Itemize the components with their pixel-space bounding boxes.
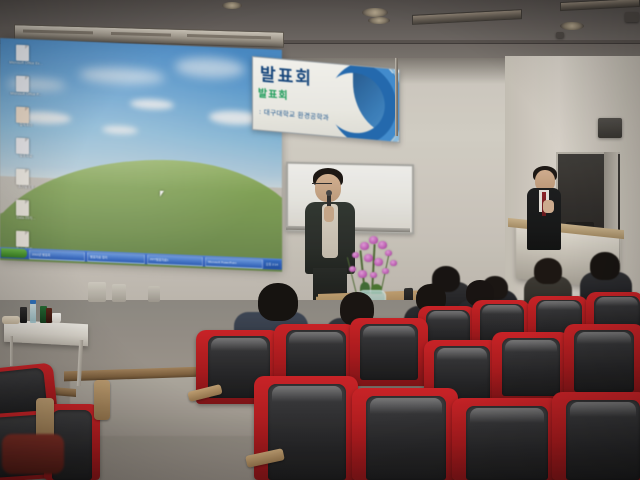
seat-gloss — [538, 301, 580, 310]
taskbar-button[interactable]: 2011년 발표회 — [29, 249, 85, 261]
mouse-cursor-icon — [160, 191, 167, 197]
orchid-bloom — [352, 252, 359, 258]
water-bottle — [30, 303, 36, 323]
orchid-bloom — [349, 266, 356, 272]
auditorium-photo: Microsoft Office Ex... Microsoft Office … — [0, 0, 640, 480]
orchid-bloom — [358, 270, 367, 278]
ceiling-speaker-icon — [625, 12, 639, 22]
seat-gloss — [505, 340, 557, 352]
standing-attendee — [527, 166, 567, 260]
downlight-icon-4 — [222, 2, 242, 9]
glasses-icon — [312, 183, 332, 188]
downlight-icon-2 — [368, 17, 390, 24]
start-button[interactable] — [1, 248, 27, 258]
document-icon — [16, 138, 29, 155]
desktop-icon[interactable]: Data-09차... — [4, 199, 48, 227]
orchid-bloom — [382, 268, 389, 274]
paper-cup — [52, 313, 61, 323]
banner-department: : 대구대학교 환경공학과 — [259, 108, 329, 122]
system-tray-clock[interactable]: 오후 2:14 — [264, 260, 280, 269]
wall-speaker-icon — [598, 118, 622, 138]
orchid-bloom — [378, 241, 387, 249]
seat-gloss — [596, 297, 638, 306]
desktop-icon-label: 발표자료 — [4, 153, 48, 159]
stage-box-2 — [112, 284, 126, 302]
orchid-bloom — [374, 258, 383, 266]
banner-arc-decoration — [329, 58, 400, 143]
bottle-cap — [30, 300, 36, 304]
desktop-icon[interactable]: 알직포더 — [4, 106, 48, 134]
document-icon — [16, 76, 29, 93]
seat-gloss — [370, 398, 442, 414]
downlight-icon — [362, 8, 388, 17]
taskbar-button[interactable]: PPT발표자료1 — [147, 254, 203, 266]
ceiling-sensor-icon — [556, 32, 564, 38]
seat-gloss — [570, 402, 636, 417]
seat-gloss — [470, 408, 544, 423]
seat-gloss — [577, 332, 631, 344]
event-banner: 발표회 발표회 : 대구대학교 환경공학과 — [252, 56, 400, 143]
document-icon — [16, 45, 29, 62]
orchid-bloom — [390, 260, 397, 266]
folder-icon — [16, 107, 29, 124]
seat-gloss — [428, 311, 468, 320]
orchid-bloom — [385, 250, 392, 256]
banner-subtitle: 발표회 — [258, 89, 289, 104]
seat-gloss — [289, 332, 343, 344]
seat-gloss — [363, 326, 415, 338]
orchid-stem — [347, 257, 358, 294]
seat-gloss — [482, 305, 522, 314]
attendee-hand — [543, 200, 554, 213]
orchid-bloom — [364, 254, 373, 262]
desktop-icon[interactable]: 조기발표용 — [4, 168, 48, 196]
stage-box — [88, 282, 106, 302]
table-leg — [10, 336, 13, 366]
downlight-icon-3 — [560, 22, 584, 30]
document-icon — [16, 169, 29, 186]
taskbar-button[interactable]: Microsoft PowerPoint — [205, 256, 263, 268]
orchid-bloom — [360, 242, 369, 250]
desktop-icon[interactable]: 발표자료 — [4, 137, 48, 165]
stage-box-3 — [148, 286, 160, 302]
seat-gloss — [211, 338, 267, 351]
audience-head — [534, 258, 562, 284]
document-icon — [16, 200, 29, 217]
document-icon — [16, 231, 29, 248]
desktop-icon-label: Data-09차... — [4, 215, 48, 221]
desktop-icon-label: 알직포더 — [4, 122, 48, 128]
projection-screen: Microsoft Office Ex... Microsoft Office … — [0, 38, 282, 272]
coffee-can — [20, 307, 27, 323]
desktop-icon-column: Microsoft Office Ex... Microsoft Office … — [4, 44, 48, 272]
orchid-bloom — [369, 236, 378, 244]
seat-gloss — [437, 348, 487, 360]
banner-title: 발표회 — [260, 66, 313, 90]
audience-head — [258, 283, 298, 321]
desktop-icon[interactable]: Microsoft Office Ex... — [4, 44, 48, 72]
presenter-hand — [324, 206, 334, 222]
taskbar-button[interactable]: 발표자료 정리 — [87, 251, 145, 263]
desktop-icon-label: Microsoft Office P... — [4, 91, 48, 97]
desktop-icon-label: 조기발표용 — [4, 184, 48, 190]
armrest — [94, 380, 110, 420]
seated-person-coat — [2, 434, 64, 474]
banner-pole — [395, 58, 398, 136]
desktop-icon-label: Microsoft Office Ex... — [4, 60, 48, 66]
snack-item — [2, 316, 20, 324]
seat-gloss — [272, 386, 342, 402]
desktop-icon[interactable]: Microsoft Office P... — [4, 75, 48, 103]
microphone-head-icon — [326, 190, 332, 196]
audience-head — [590, 252, 620, 280]
orchid-bloom — [370, 272, 377, 278]
